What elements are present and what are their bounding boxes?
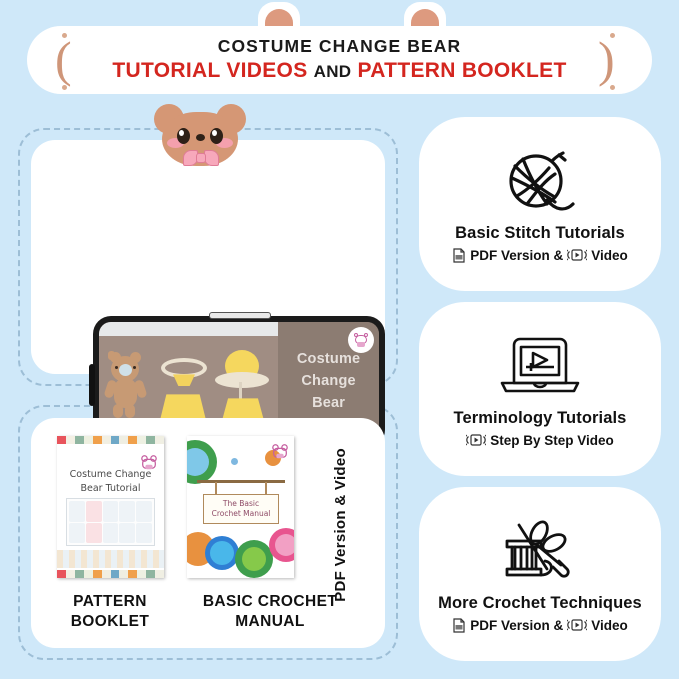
feature-subtitle: Step By Step Video bbox=[466, 433, 614, 448]
pattern-thumb bbox=[119, 501, 135, 522]
booklet1-brand-badge-icon bbox=[140, 454, 158, 472]
pattern-booklet-caption: PATTERN BOOKLET bbox=[40, 592, 180, 632]
feature-title: Basic Stitch Tutorials bbox=[455, 224, 625, 243]
mascot-bow-center bbox=[196, 153, 206, 163]
feature-subtitle: PDF Version & Video bbox=[452, 618, 628, 633]
screen-title-line-1: Costume bbox=[297, 349, 360, 371]
banner-dot-icon bbox=[610, 33, 615, 38]
decor-circle bbox=[242, 547, 266, 571]
feature-sub-pdf: PDF Version & bbox=[470, 248, 563, 263]
booklet1-pattern-thumbnails bbox=[66, 498, 155, 546]
crochet-bear-leg-icon bbox=[113, 404, 123, 418]
pdf-file-icon bbox=[452, 248, 466, 263]
pattern-thumb bbox=[119, 523, 135, 544]
feature-card-basic-stitch: Basic Stitch Tutorials PDF Version & Vid… bbox=[419, 117, 661, 291]
pattern-thumb bbox=[69, 501, 85, 522]
banner-dot-icon bbox=[62, 85, 67, 90]
banner-title: COSTUME CHANGE BEAR bbox=[218, 36, 462, 56]
decor-dot bbox=[231, 458, 238, 465]
yarn-ball-icon bbox=[503, 146, 577, 220]
booklet2-sign-bar bbox=[197, 480, 285, 483]
booklet-bottom-border bbox=[57, 570, 164, 578]
feature-sub-video: Video bbox=[591, 618, 628, 633]
banner-subtitle-part1: TUTORIAL VIDEOS bbox=[112, 59, 307, 82]
feature-sub-video: Step By Step Video bbox=[490, 433, 614, 448]
booklet2-sign: The Basic Crochet Manual bbox=[203, 494, 279, 524]
banner-subtitle: TUTORIAL VIDEOS AND PATTERN BOOKLET bbox=[112, 58, 566, 83]
header-banner: COSTUME CHANGE BEAR TUTORIAL VIDEOS AND … bbox=[27, 26, 652, 94]
mascot-nose bbox=[196, 134, 205, 141]
feature-sub-video: Video bbox=[591, 248, 628, 263]
crochet-manual-cover: The Basic Crochet Manual bbox=[187, 436, 294, 578]
banner-dot-icon bbox=[610, 85, 615, 90]
pattern-booklet-cover: Costume Change Bear Tutorial bbox=[57, 436, 164, 578]
banner-paren-right-icon: ) bbox=[598, 38, 628, 82]
booklet2-title-line-2: Crochet Manual bbox=[212, 509, 271, 518]
outfit-hanger-icon bbox=[239, 382, 242, 400]
crochet-manual-caption-line-1: BASIC CROCHET bbox=[203, 593, 337, 610]
booklet2-brand-badge-icon bbox=[271, 443, 289, 461]
bear-mascot-icon bbox=[152, 104, 248, 176]
mascot-eye-right bbox=[210, 128, 223, 144]
badge-bear-glyph-icon bbox=[354, 333, 368, 348]
banner-dot-icon bbox=[62, 33, 67, 38]
booklet-top-border bbox=[57, 436, 164, 444]
outfit-hat-brim-icon bbox=[215, 372, 269, 388]
booklet2-sign-text: The Basic Crochet Manual bbox=[212, 499, 271, 519]
banner-paren-left-icon: ( bbox=[55, 38, 85, 82]
pattern-booklet-caption-line-1: PATTERN bbox=[73, 593, 147, 610]
video-play-icon bbox=[466, 433, 486, 447]
booklet1-cover-title: Costume Change Bear Tutorial bbox=[57, 468, 164, 496]
feature-sub-pdf: PDF Version & bbox=[470, 618, 563, 633]
mascot-eye-left bbox=[177, 128, 190, 144]
pdf-version-video-vertical-label: PDF Version & Video bbox=[332, 448, 349, 602]
photo-background bbox=[99, 336, 278, 427]
laptop-video-icon bbox=[494, 331, 586, 405]
mascot-bow-right bbox=[204, 150, 219, 166]
tablet-button-side bbox=[89, 364, 95, 406]
screen-title-line-3: Bear bbox=[312, 393, 345, 415]
feature-subtitle: PDF Version & Video bbox=[452, 248, 628, 263]
pattern-thumb bbox=[103, 501, 119, 522]
pattern-thumb bbox=[136, 501, 152, 522]
feature-title: More Crochet Techniques bbox=[438, 594, 642, 613]
tablet-button-top bbox=[209, 312, 271, 319]
brand-badge-icon bbox=[348, 327, 374, 353]
booklet2-title-line-1: The Basic bbox=[223, 499, 259, 508]
pattern-booklet-caption-line-2: BOOKLET bbox=[71, 613, 150, 630]
mascot-bowtie-icon bbox=[183, 149, 219, 167]
booklet1-title-line-2: Bear Tutorial bbox=[57, 482, 164, 496]
poster-root: COSTUME CHANGE BEAR TUTORIAL VIDEOS AND … bbox=[0, 0, 679, 679]
crochet-manual-caption-line-2: MANUAL bbox=[235, 613, 305, 630]
pattern-thumb bbox=[86, 501, 102, 522]
crochet-manual-caption: BASIC CROCHET MANUAL bbox=[200, 592, 340, 632]
badge-body bbox=[357, 342, 365, 347]
decor-circle bbox=[275, 534, 294, 556]
banner-subtitle-and: AND bbox=[314, 62, 352, 81]
video-play-icon bbox=[567, 618, 587, 632]
booklet-captions: PATTERN BOOKLET BASIC CROCHET MANUAL bbox=[40, 592, 340, 632]
booklet1-decor-strip bbox=[57, 550, 164, 568]
decor-circle bbox=[210, 541, 234, 565]
pattern-thumb bbox=[86, 523, 102, 544]
feature-title: Terminology Tutorials bbox=[454, 409, 627, 428]
thread-spool-scissors-icon bbox=[497, 516, 583, 590]
pattern-thumb bbox=[103, 523, 119, 544]
pdf-file-icon bbox=[452, 618, 466, 633]
feature-card-terminology: Terminology Tutorials Step By Step Video bbox=[419, 302, 661, 476]
feature-card-more-techniques: More Crochet Techniques PDF Version & Vi… bbox=[419, 487, 661, 661]
outfit-tie-icon bbox=[173, 374, 195, 386]
banner-subtitle-part2: PATTERN BOOKLET bbox=[358, 59, 567, 82]
crochet-bear-bow-icon bbox=[108, 351, 115, 360]
pattern-thumb bbox=[136, 523, 152, 544]
crochet-bear-leg-icon bbox=[125, 404, 135, 418]
video-play-icon bbox=[567, 248, 587, 262]
screen-title-line-2: Change bbox=[301, 371, 355, 393]
pattern-thumb bbox=[69, 523, 85, 544]
